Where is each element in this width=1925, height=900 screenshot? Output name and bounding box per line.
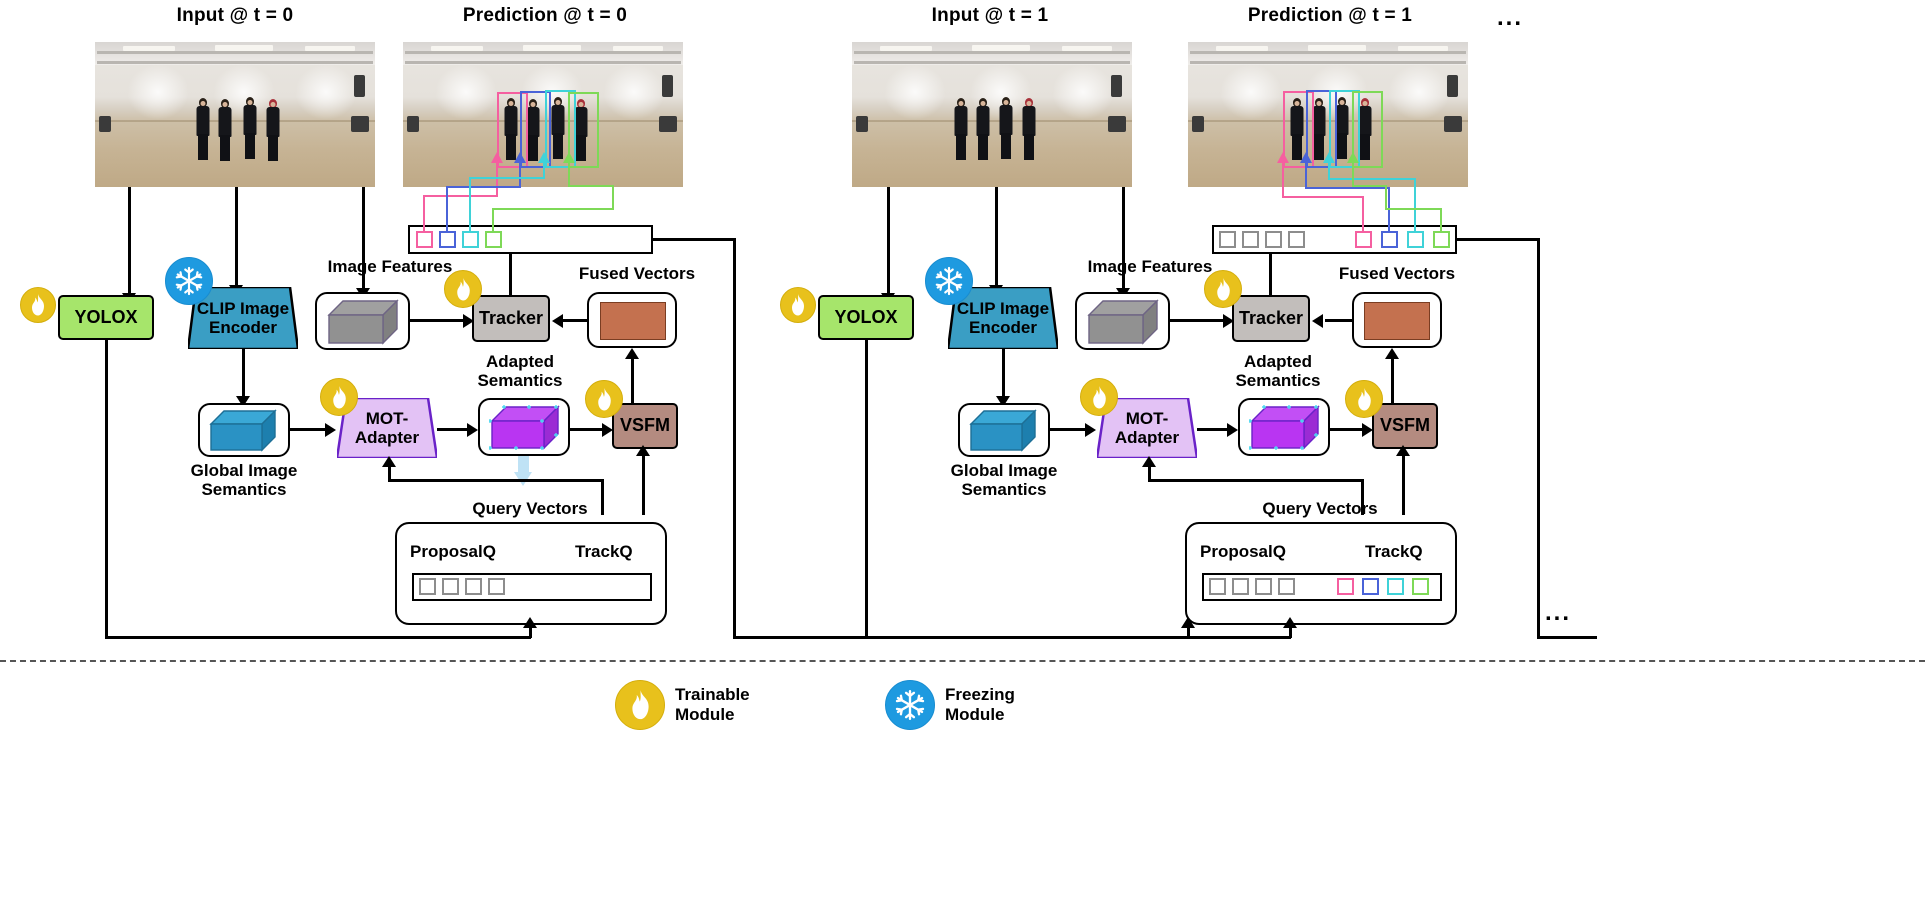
- query-square-track-1: [1337, 578, 1354, 595]
- person-2: [217, 99, 233, 161]
- query-square: [488, 578, 505, 595]
- diagram-canvas: Input @ t = 0 Prediction @ t = 0 Input @…: [0, 0, 1925, 900]
- caption-query-vectors: Query Vectors: [1240, 499, 1400, 518]
- query-square-track-2: [1362, 578, 1379, 595]
- snowflake-icon: [925, 257, 973, 305]
- fire-icon: [1345, 380, 1383, 418]
- label-proposalq: ProposalQ: [1200, 542, 1310, 561]
- caption-fused-vectors: Fused Vectors: [1317, 264, 1477, 283]
- input-frame-t0: [95, 42, 375, 187]
- output-square-track-3: [1407, 231, 1424, 248]
- output-square: [1242, 231, 1259, 248]
- query-square: [419, 578, 436, 595]
- legend-trainable-label: Trainable Module: [675, 685, 750, 724]
- query-square: [1209, 578, 1226, 595]
- edge-yolox-feedback: [105, 340, 108, 638]
- module-mot-adapter-label: MOT- Adapter: [337, 409, 437, 447]
- legend-freezing-label: Freezing Module: [945, 685, 1015, 724]
- module-yolox[interactable]: YOLOX: [818, 295, 914, 340]
- edge-input-to-clip: [235, 187, 238, 287]
- caption-adapted-semantics: Adapted Semantics: [455, 352, 585, 390]
- query-square: [465, 578, 482, 595]
- edge-t1-output-continuation: [1457, 238, 1539, 241]
- adapted-semantics-cube: [489, 404, 561, 451]
- section-divider: [0, 660, 1925, 662]
- fire-icon: [1204, 270, 1242, 308]
- title-prediction-t1: Prediction @ t = 1: [1185, 5, 1475, 26]
- image-features-cube: [327, 299, 399, 345]
- caption-fused-vectors: Fused Vectors: [557, 264, 717, 283]
- snowflake-icon: [165, 257, 213, 305]
- global-semantics-cube: [209, 409, 279, 452]
- fused-vectors-block: [600, 302, 666, 340]
- title-input-t0: Input @ t = 0: [95, 5, 375, 26]
- caption-adapted-semantics: Adapted Semantics: [1213, 352, 1343, 390]
- edge-clip-to-global: [242, 349, 245, 398]
- output-square-track-4: [485, 231, 502, 248]
- fire-icon: [1080, 378, 1118, 416]
- output-square-track-4: [1433, 231, 1450, 248]
- adapted-semantics-cube: [1249, 404, 1321, 451]
- fire-icon: [444, 270, 482, 308]
- legend-trainable: Trainable Module: [615, 680, 750, 730]
- ellipsis-top: ...: [1480, 5, 1540, 32]
- module-tracker[interactable]: Tracker: [1232, 295, 1310, 342]
- fire-icon: [320, 378, 358, 416]
- query-square: [1278, 578, 1295, 595]
- module-clip-label: CLIP Image Encoder: [188, 299, 298, 337]
- module-clip-label: CLIP Image Encoder: [948, 299, 1058, 337]
- label-proposalq: ProposalQ: [410, 542, 520, 561]
- edge-input-to-yolox: [128, 187, 131, 295]
- snowflake-icon: [885, 680, 935, 730]
- person-3: [242, 97, 258, 160]
- module-tracker[interactable]: Tracker: [472, 295, 550, 342]
- output-square-track-3: [462, 231, 479, 248]
- title-input-t1: Input @ t = 1: [850, 5, 1130, 26]
- legend-freezing: Freezing Module: [885, 680, 1015, 730]
- fire-icon: [20, 287, 56, 323]
- output-square-track-2: [439, 231, 456, 248]
- query-square: [1255, 578, 1272, 595]
- output-square: [1219, 231, 1236, 248]
- query-square: [1232, 578, 1249, 595]
- fire-icon: [585, 380, 623, 418]
- output-square-track-1: [416, 231, 433, 248]
- caption-query-vectors: Query Vectors: [450, 499, 610, 518]
- caption-global-image-semantics: Global Image Semantics: [168, 461, 320, 499]
- title-prediction-t0: Prediction @ t = 0: [400, 5, 690, 26]
- output-square: [1288, 231, 1305, 248]
- query-square-track-3: [1387, 578, 1404, 595]
- global-semantics-cube: [969, 409, 1039, 452]
- query-square-track-4: [1412, 578, 1429, 595]
- query-square: [442, 578, 459, 595]
- edge-t0-output-to-t1-query: [653, 238, 735, 241]
- fire-icon: [615, 680, 665, 730]
- person-4: [265, 99, 281, 161]
- image-features-cube: [1087, 299, 1159, 345]
- module-yolox[interactable]: YOLOX: [58, 295, 154, 340]
- output-square: [1265, 231, 1282, 248]
- module-vsfm[interactable]: VSFM: [1372, 403, 1438, 449]
- label-trackq: TrackQ: [575, 542, 665, 561]
- person-1: [195, 98, 211, 160]
- output-square-track-2: [1381, 231, 1398, 248]
- output-square-track-1: [1355, 231, 1372, 248]
- fire-icon: [780, 287, 816, 323]
- caption-global-image-semantics: Global Image Semantics: [928, 461, 1080, 499]
- label-trackq: TrackQ: [1365, 542, 1455, 561]
- module-vsfm[interactable]: VSFM: [612, 403, 678, 449]
- fused-vectors-block: [1364, 302, 1430, 340]
- input-frame-t1: [852, 42, 1132, 187]
- module-mot-adapter-label: MOT- Adapter: [1097, 409, 1197, 447]
